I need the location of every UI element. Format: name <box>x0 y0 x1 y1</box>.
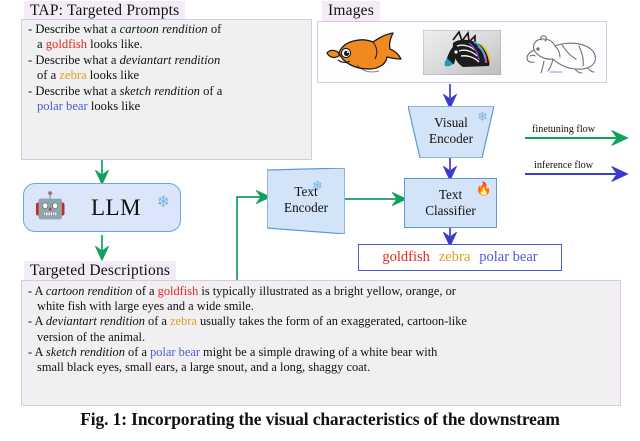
output-label-goldfish: goldfish <box>382 249 430 266</box>
descriptions-header: Targeted Descriptions <box>24 261 176 281</box>
caption-text: Incorporating the visual characteristics… <box>131 409 560 429</box>
text-encoder-label-line2: Encoder <box>267 200 345 215</box>
output-label-zebra: zebra <box>439 249 470 266</box>
output-label-polar-bear: polar bear <box>479 249 537 266</box>
text-classifier-label-line2: Classifier <box>405 203 496 218</box>
legend-inference-flow-label: inference flow <box>534 160 593 171</box>
description-line: - A cartoon rendition of a goldfish is t… <box>28 284 618 299</box>
polar-bear-sketch-image <box>522 28 600 76</box>
prompt-line: - Describe what a sketch rendition of a <box>28 84 308 99</box>
prompt-line: polar bear looks like <box>28 99 308 114</box>
class-zebra: zebra <box>170 314 197 328</box>
snowflake-frozen-icon: ❄ <box>157 194 170 210</box>
prompt-line: - Describe what a cartoon rendition of <box>28 22 308 37</box>
description-line: small black eyes, small ears, a large sn… <box>28 360 618 375</box>
snowflake-frozen-icon: ❄ <box>312 180 323 193</box>
prompt-line: a goldfish looks like. <box>28 37 308 52</box>
images-header: Images <box>322 1 380 21</box>
fire-trainable-icon: 🔥 <box>476 183 492 196</box>
description-line: white fish with large eyes and a wide sm… <box>28 299 618 314</box>
figure-number: Fig. 1 <box>80 409 121 429</box>
visual-encoder-label-line2: Encoder <box>408 131 494 146</box>
prompts-text: - Describe what a cartoon rendition of a… <box>28 22 308 114</box>
class-goldfish: goldfish <box>46 37 87 51</box>
prompt-line: - Describe what a deviantart rendition <box>28 53 308 68</box>
zebra-deviantart-image <box>423 30 501 75</box>
class-polar-bear: polar bear <box>150 345 200 359</box>
goldfish-cartoon-image <box>325 29 403 75</box>
llm-module[interactable]: 🤖 LLM ❄ <box>23 183 181 232</box>
visual-encoder-module[interactable]: Visual Encoder ❄ <box>408 106 494 158</box>
figure-caption: Fig. 1: Incorporating the visual charact… <box>0 409 640 430</box>
class-zebra: zebra <box>59 68 86 82</box>
text-classifier-module[interactable]: Text Classifier 🔥 <box>404 178 497 228</box>
caption-separator: : <box>121 409 131 429</box>
prompt-line: of a zebra looks like <box>28 68 308 83</box>
class-goldfish: goldfish <box>158 284 199 298</box>
prompts-header: TAP: Targeted Prompts <box>24 1 185 21</box>
description-line: - A sketch rendition of a polar bear mig… <box>28 345 618 360</box>
snowflake-frozen-icon: ❄ <box>477 111 488 124</box>
text-encoder-module[interactable]: Text Encoder ❄ <box>267 168 345 234</box>
descriptions-text: - A cartoon rendition of a goldfish is t… <box>28 284 618 375</box>
legend-finetuning-flow-label: finetuning flow <box>532 124 595 135</box>
class-polar-bear: polar bear <box>37 99 88 113</box>
text-encoder-label-line1: Text <box>267 184 345 199</box>
description-line: version of the animal. <box>28 330 618 345</box>
predicted-labels-box: goldfish zebra polar bear <box>358 244 562 271</box>
figure-root: TAP: Targeted Prompts - Describe what a … <box>0 0 640 441</box>
description-line: - A deviantart rendition of a zebra usua… <box>28 314 618 329</box>
